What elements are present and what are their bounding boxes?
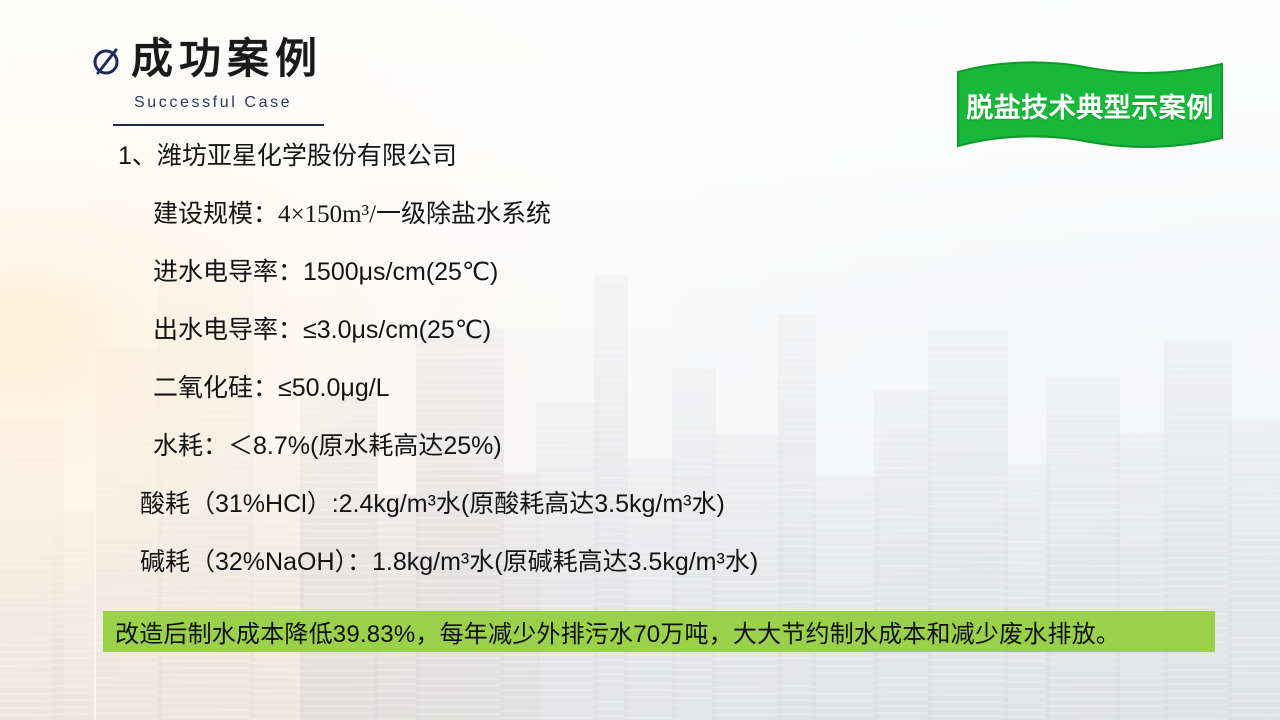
list-item-silica: 二氧化硅：≤50.0μg/L [153,375,390,403]
line-value: 4×150m³/一级除盐水系统 [278,201,551,228]
line-text: 1、潍坊亚星化学股份有限公司 [118,142,457,170]
line-separator: ： [203,432,228,460]
list-item-acid-consumption: 酸耗（31%HCl）:2.4kg/m³水(原酸耗高达3.5kg/m³水) [140,491,725,519]
line-label: 水耗 [153,432,203,460]
ribbon-label: 脱盐技术典型示案例 [956,86,1224,125]
list-item-construction-scale: 建设规模：4×150m³/一级除盐水系统 [153,201,551,229]
list-item-alkali-consumption: 碱耗（32%NaOH）：1.8kg/m³水(原碱耗高达3.5kg/m³水) [140,549,758,577]
line-value: ＜8.7%(原水耗高达25%) [228,432,502,460]
line-value: ≤50.0μg/L [278,374,390,402]
list-item-case-number-and-company: 1、潍坊亚星化学股份有限公司 [118,143,457,171]
line-separator: ： [253,200,278,228]
line-label: 进水电导率 [153,258,278,286]
line-text: 酸耗（31%HCl）:2.4kg/m³水(原酸耗高达3.5kg/m³水) [140,490,725,518]
title-underline-rule [113,124,324,126]
line-value: ≤3.0μs/cm(25℃) [303,316,491,344]
section-ribbon-banner: 脱盐技术典型示案例 [956,58,1224,150]
conclusion-highlight-bar: 改造后制水成本降低39.83%，每年减少外排污水70万吨，大大节约制水成本和减少… [103,611,1215,652]
line-separator: ： [278,316,303,344]
line-separator: ： [253,374,278,402]
list-item-outlet-conductivity: 出水电导率：≤3.0μs/cm(25℃) [153,317,491,345]
line-label: 出水电导率 [153,316,278,344]
page-subtitle: Successful Case [134,94,292,112]
page-title: 成功案例 [131,38,323,80]
circle-slash-icon [92,46,122,76]
line-label: 建设规模 [153,200,253,228]
line-value: 1500μs/cm(25℃) [303,258,498,286]
presentation-slide: 成功案例 Successful Case 脱盐技术典型示案例 1、潍坊亚星化学股… [0,0,1280,720]
line-separator: ： [278,258,303,286]
list-item-inlet-conductivity: 进水电导率：1500μs/cm(25℃) [153,259,498,287]
list-item-water-consumption: 水耗：＜8.7%(原水耗高达25%) [153,433,502,461]
line-text: 碱耗（32%NaOH）：1.8kg/m³水(原碱耗高达3.5kg/m³水) [140,548,758,576]
slide-title-row: 成功案例 [92,38,323,80]
conclusion-text: 改造后制水成本降低39.83%，每年减少外排污水70万吨，大大节约制水成本和减少… [115,614,1120,649]
line-label: 二氧化硅 [153,374,253,402]
